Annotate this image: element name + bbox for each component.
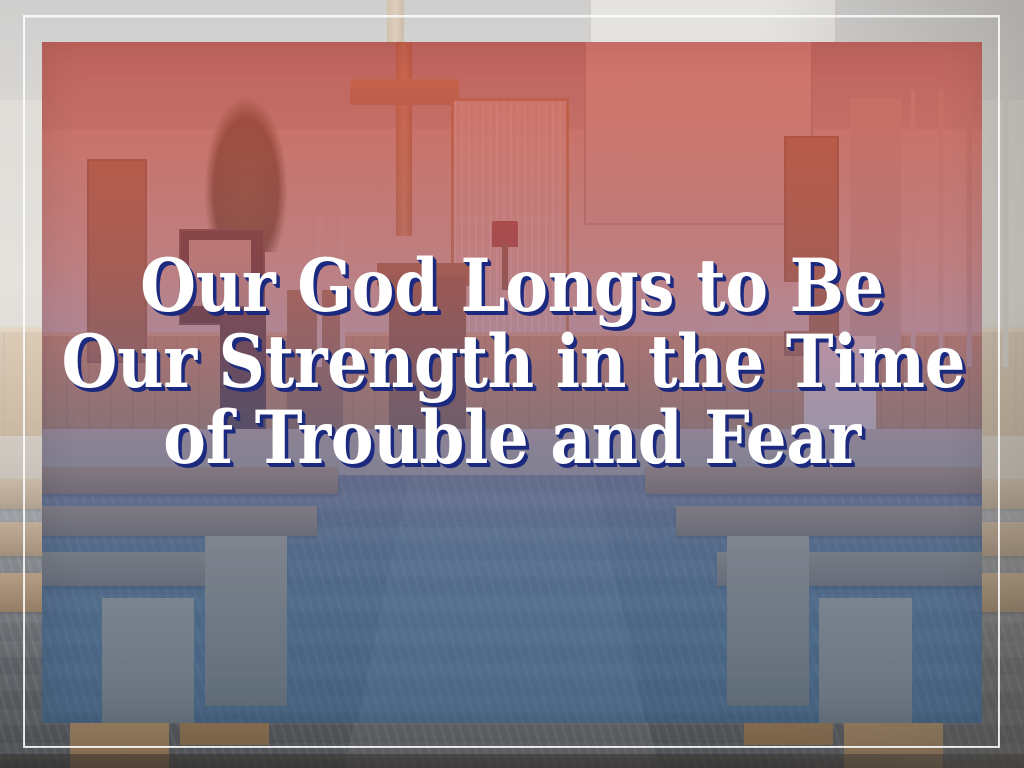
panel-inner-shadow [42, 42, 982, 723]
hero-photo-panel [42, 42, 982, 723]
presentation-slide: Our God Longs to Be Our Strength in the … [0, 0, 1024, 768]
